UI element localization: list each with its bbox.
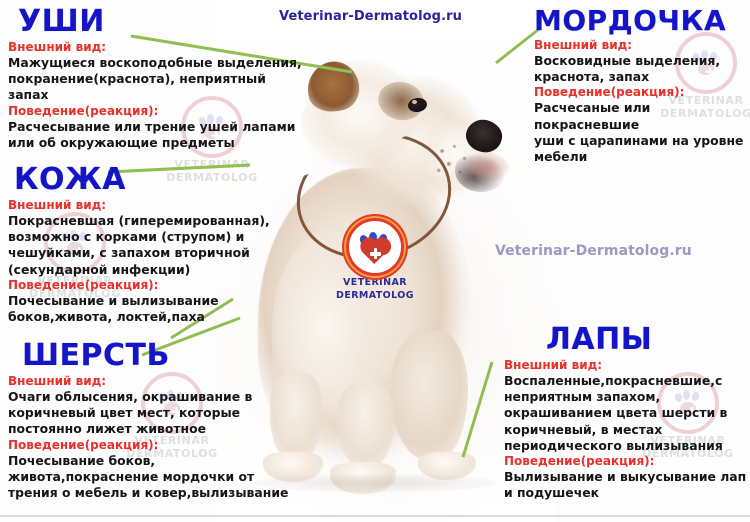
- behaviour-label-ears: Поведение(реакция):: [8, 104, 314, 119]
- paw-icon: [359, 232, 391, 262]
- appearance-text-coat-1: коричневый цвет мест, которые: [8, 405, 310, 421]
- section-title-skin: КОЖА: [14, 162, 304, 197]
- logo-ring-icon: [346, 218, 404, 276]
- appearance-text-paws-0: Воспаленные,покрасневшие,с: [504, 373, 750, 389]
- behaviour-text-paws-1: и подушечек: [504, 485, 750, 501]
- logo-line1: VETERINAR: [336, 278, 414, 289]
- appearance-text-coat-2: постоянно лижет животное: [8, 421, 310, 437]
- behaviour-text-coat-2: трения о мебель и ковер,вылизывание: [8, 485, 310, 501]
- dog-front-right-leg: [338, 382, 394, 468]
- behaviour-text-ears-1: или об окружающие предметы: [8, 135, 314, 151]
- brand-logo: VETERINAR DERMATOLOG: [336, 218, 414, 301]
- appearance-text-ears-2: запах: [8, 87, 314, 103]
- behaviour-text-muzzle-1: уши с царапинами на уровне: [534, 133, 750, 149]
- appearance-text-paws-2: окрашиванием цвета шерсти в: [504, 405, 750, 421]
- section-muzzle: МОРДОЧКА Внешний вид: Восковидные выделе…: [530, 4, 750, 165]
- appearance-text-skin-2: чешуйками, с запахом вторичной: [8, 245, 304, 261]
- behaviour-text-paws-0: Вылизывание и выкусывание лап: [504, 469, 750, 485]
- dog-hind-leg: [392, 330, 468, 460]
- section-ears: УШИ Внешний вид: Мажущиеся воскоподобные…: [4, 4, 314, 151]
- section-title-muzzle: МОРДОЧКА: [534, 4, 750, 37]
- site-url-middle: Veterinar-Dermatolog.ru: [495, 243, 692, 259]
- appearance-label-skin: Внешний вид:: [8, 198, 304, 213]
- section-paws: ЛАПЫ Внешний вид: Воспаленные,покрасневш…: [500, 322, 750, 501]
- appearance-text-skin-0: Покрасневшая (гиперемированная),: [8, 213, 304, 229]
- section-title-paws: ЛАПЫ: [546, 322, 750, 357]
- appearance-text-skin-3: (секундарной инфекции): [8, 262, 304, 278]
- behaviour-label-skin: Поведение(реакция):: [8, 278, 304, 293]
- section-skin: КОЖА Внешний вид: Покрасневшая (гипереми…: [4, 162, 304, 325]
- appearance-text-ears-0: Мажущиеся воскоподобные выделения,: [8, 55, 314, 71]
- section-title-ears: УШИ: [18, 4, 314, 39]
- behaviour-label-coat: Поведение(реакция):: [8, 438, 310, 453]
- appearance-text-paws-1: неприятным запахом,: [504, 389, 750, 405]
- behaviour-text-coat-1: живота,покраснение мордочки от: [8, 469, 310, 485]
- appearance-text-muzzle-0: Восковидные выделения,: [534, 53, 750, 69]
- behaviour-text-coat-0: Почесывание боков,: [8, 453, 310, 469]
- section-coat: ШЕРСТЬ Внешний вид: Очаги облысения, окр…: [4, 338, 310, 501]
- behaviour-text-muzzle-0: Расчесаные или покрасневшие: [534, 100, 750, 132]
- appearance-text-skin-1: возможно с корками (струпом) и: [8, 229, 304, 245]
- site-url-top[interactable]: Veterinar-Dermatolog.ru: [279, 9, 462, 24]
- appearance-text-coat-0: Очаги облысения, окрашивание в: [8, 389, 310, 405]
- appearance-text-paws-3: коричневый, в местах: [504, 422, 750, 438]
- behaviour-text-skin-1: боков,живота, локтей,паха: [8, 309, 304, 325]
- infographic-poster: ✚ VETERINAR DERMATOLOG ✚ VETERINAR DERMA…: [0, 0, 750, 522]
- appearance-label-coat: Внешний вид:: [8, 374, 310, 389]
- behaviour-label-muzzle: Поведение(реакция):: [534, 85, 750, 100]
- appearance-text-muzzle-1: краснота, запах: [534, 69, 750, 85]
- dog-eye-highlight: [412, 100, 417, 104]
- behaviour-text-muzzle-2: мебели: [534, 149, 750, 165]
- appearance-text-paws-4: периодического вылизывания: [504, 438, 750, 454]
- logo-line2: DERMATOLOG: [336, 291, 414, 302]
- appearance-text-ears-1: покранение(краснота), неприятный: [8, 71, 314, 87]
- appearance-label-paws: Внешний вид:: [504, 358, 750, 373]
- behaviour-text-skin-0: Почесывание и вылизывание: [8, 293, 304, 309]
- behaviour-label-paws: Поведение(реакция):: [504, 454, 750, 469]
- section-title-coat: ШЕРСТЬ: [22, 338, 310, 373]
- appearance-label-ears: Внешний вид:: [8, 40, 314, 55]
- footer-divider: [0, 515, 750, 517]
- behaviour-text-ears-0: Расчесывание или трение ушей лапами: [8, 119, 314, 135]
- appearance-label-muzzle: Внешний вид:: [534, 38, 750, 53]
